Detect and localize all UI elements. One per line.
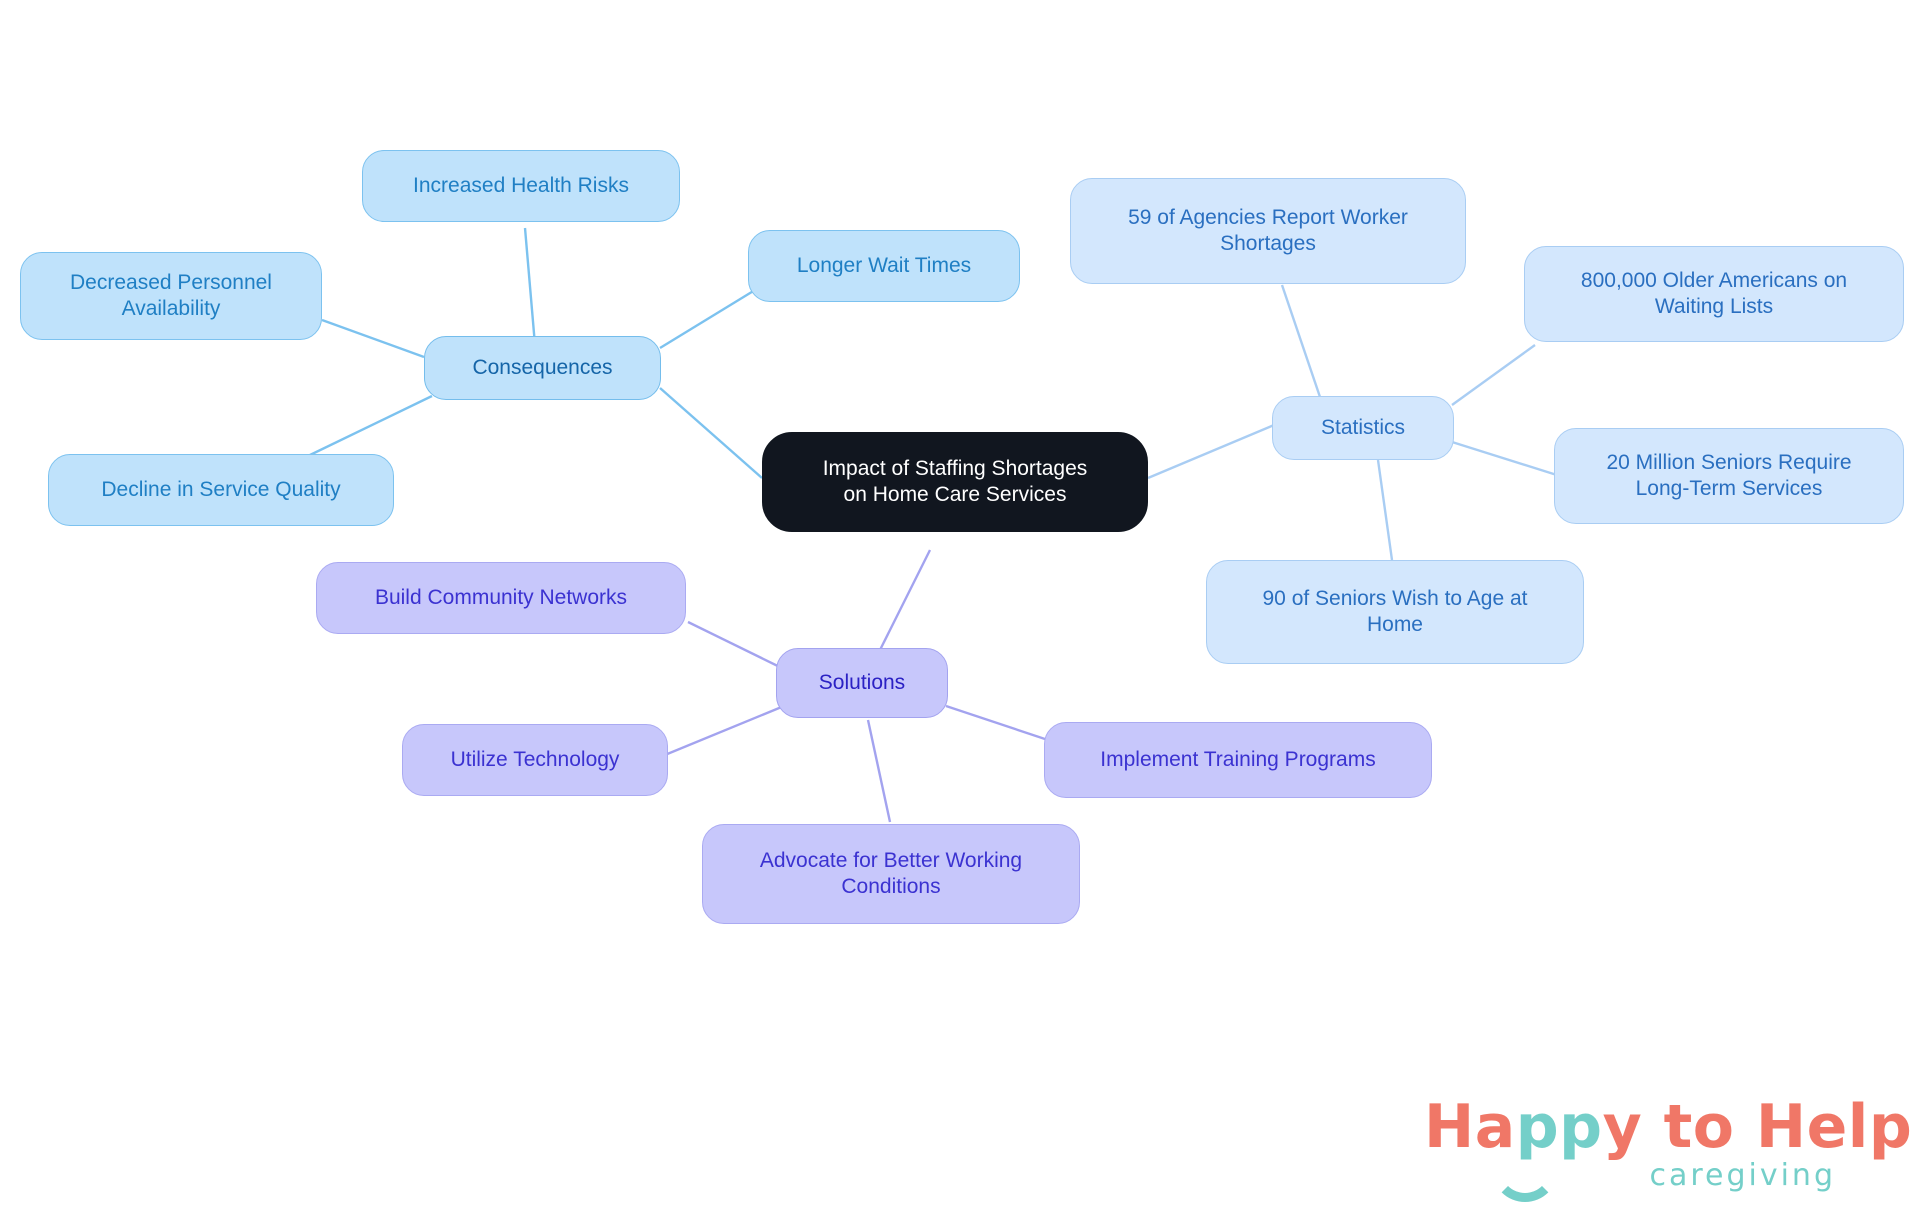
node-implement-training-programs[interactable]: Implement Training Programs [1044,722,1432,798]
node-seniors-wish-age-at-home[interactable]: 90 of Seniors Wish to Age at Home [1206,560,1584,664]
edge-statistics-waiting-lists [1452,345,1535,405]
logo-text-rest: y to Help [1603,1092,1913,1162]
node-utilize-technology[interactable]: Utilize Technology [402,724,668,796]
edge-root-consequences [660,388,762,478]
node-older-americans-waiting-lists[interactable]: 800,000 Older Americans on Waiting Lists [1524,246,1904,342]
logo-tagline: caregiving [1649,1158,1836,1193]
edge-solutions-technology [660,706,784,757]
edge-consequences-health-risks [525,228,535,345]
node-advocate-better-working-conditions[interactable]: Advocate for Better Working Conditions [702,824,1080,924]
edge-statistics-age-at-home [1378,460,1392,560]
edge-solutions-training [946,706,1048,740]
edge-statistics-agencies [1282,285,1320,397]
edge-consequences-personnel [322,320,424,357]
node-agencies-report-worker-shortages[interactable]: 59 of Agencies Report Worker Shortages [1070,178,1466,284]
edge-root-solutions [880,550,930,650]
mindmap-canvas: Impact of Staffing Shortages on Home Car… [0,0,1920,1215]
node-decline-in-service-quality[interactable]: Decline in Service Quality [48,454,394,526]
edge-statistics-long-term [1452,442,1560,476]
node-solutions[interactable]: Solutions [776,648,948,718]
brand-logo: Happy to Help caregiving [1424,1092,1844,1196]
edge-solutions-advocate [868,720,890,822]
edge-layer [0,0,1920,1215]
node-build-community-networks[interactable]: Build Community Networks [316,562,686,634]
node-seniors-require-long-term-services[interactable]: 20 Million Seniors Require Long-Term Ser… [1554,428,1904,524]
edge-consequences-wait-times [660,290,755,348]
node-decreased-personnel-availability[interactable]: Decreased Personnel Availability [20,252,322,340]
smile-icon [1492,1136,1558,1202]
edge-root-statistics [1148,425,1274,478]
node-root[interactable]: Impact of Staffing Shortages on Home Car… [762,432,1148,532]
node-longer-wait-times[interactable]: Longer Wait Times [748,230,1020,302]
node-consequences[interactable]: Consequences [424,336,661,400]
node-increased-health-risks[interactable]: Increased Health Risks [362,150,680,222]
edge-consequences-service-quality [310,396,432,455]
node-statistics[interactable]: Statistics [1272,396,1454,460]
edge-solutions-community [688,622,790,672]
